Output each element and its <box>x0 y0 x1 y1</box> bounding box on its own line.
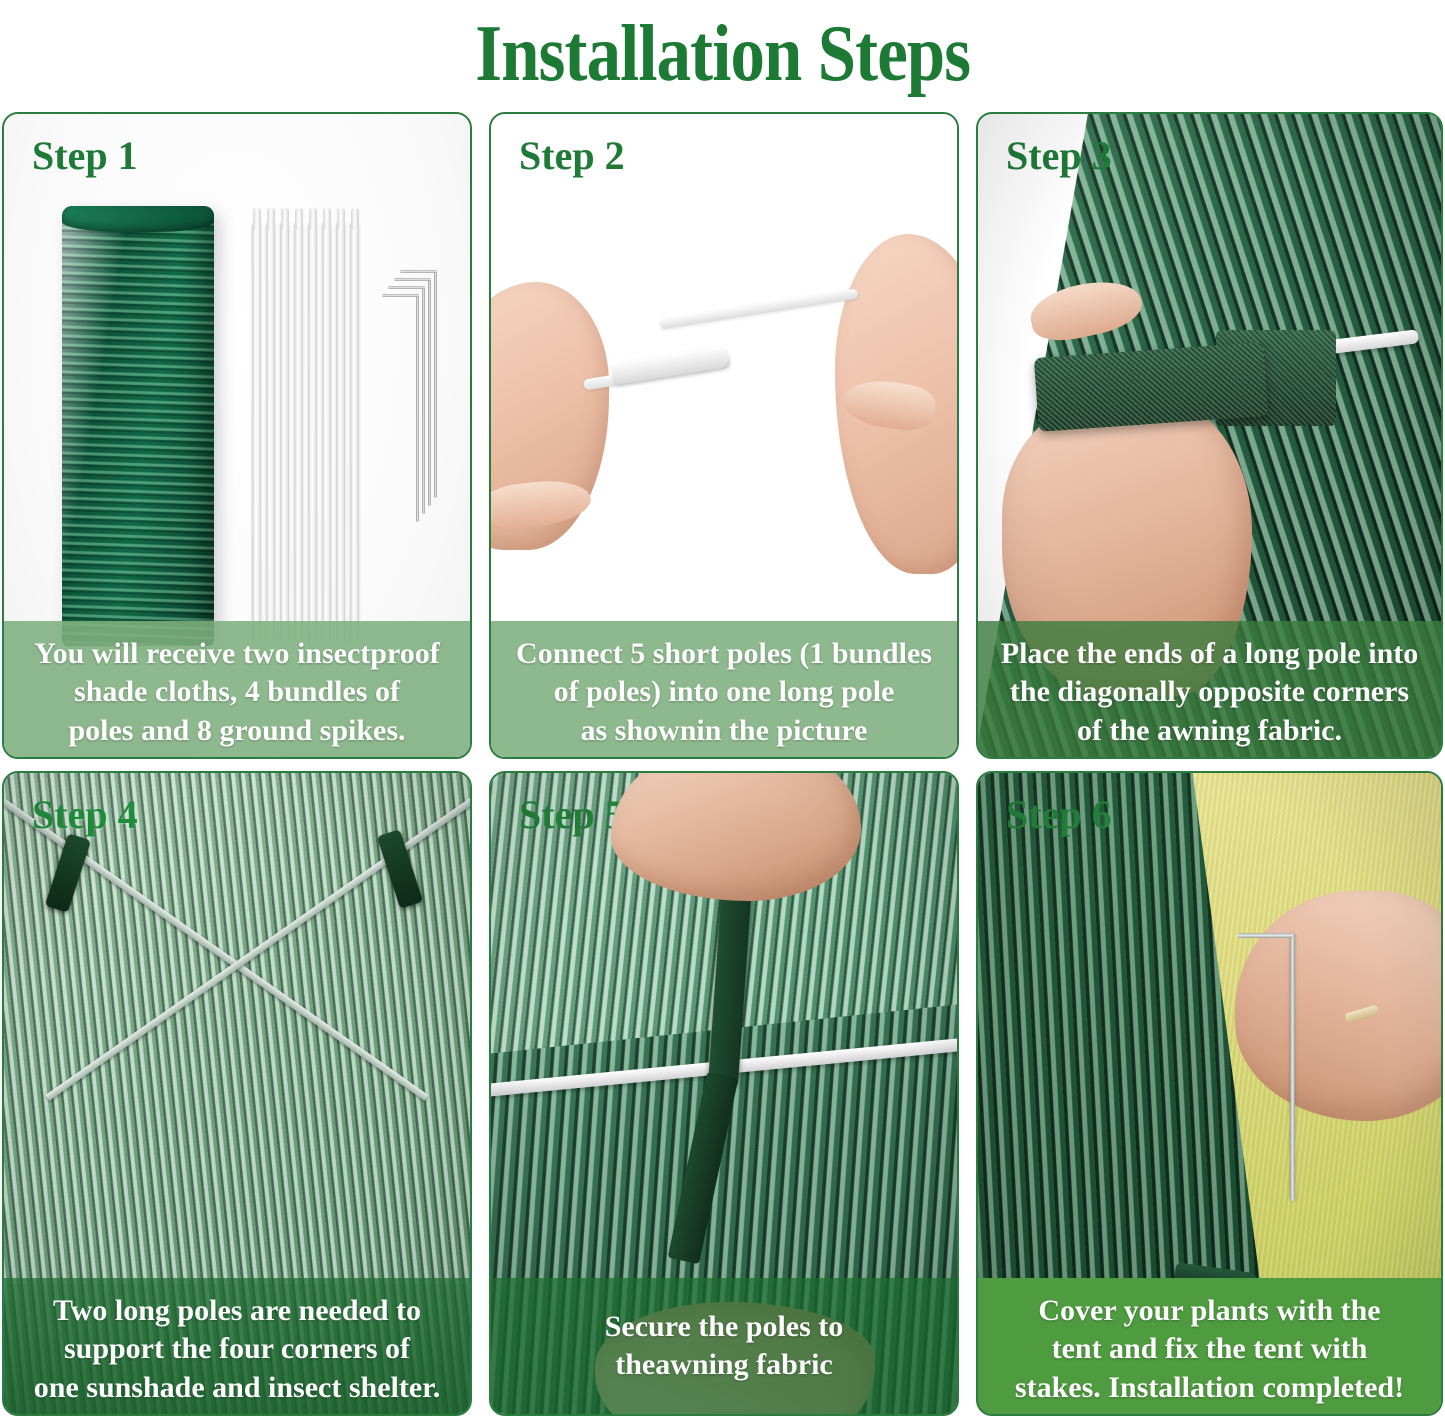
step-caption-5: Secure the poles to theawning fabric <box>491 1278 957 1414</box>
page-title: Installation Steps <box>475 14 970 94</box>
step-card-3[interactable]: Step 3 Place the ends of a long pole int… <box>976 112 1443 759</box>
caption-line: poles and 8 ground spikes. <box>22 712 452 750</box>
step-label-4: Step 4 <box>32 795 138 835</box>
caption-line: theawning fabric <box>509 1346 939 1384</box>
step-label-5: Step 5 <box>519 795 625 835</box>
pole-bundle-icon <box>252 222 364 642</box>
caption-line: as shownin the picture <box>509 712 939 750</box>
ground-stake-hook <box>1237 933 1293 938</box>
shade-cloth-roll-icon <box>62 206 214 646</box>
step-label-1: Step 1 <box>32 136 138 176</box>
step-caption-1: You will receive two insectproof shade c… <box>4 621 470 757</box>
page-title-bar: Installation Steps <box>0 0 1445 104</box>
caption-line: Place the ends of a long pole into <box>996 635 1423 673</box>
caption-line: one sunshade and insect shelter. <box>22 1369 452 1407</box>
caption-line: You will receive two insectproof <box>22 635 452 673</box>
caption-line: Secure the poles to <box>509 1308 939 1346</box>
step-label-3: Step 3 <box>1006 136 1112 176</box>
installation-steps-infographic: Installation Steps <box>0 0 1445 1416</box>
step-card-4[interactable]: Step 4 Two long poles are needed to supp… <box>2 771 472 1416</box>
thumb <box>841 377 938 434</box>
step-caption-3: Place the ends of a long pole into the d… <box>978 621 1441 757</box>
caption-line: the diagonally opposite corners <box>996 673 1423 711</box>
caption-line: support the four corners of <box>22 1330 452 1368</box>
caption-line: of poles) into one long pole <box>509 673 939 711</box>
caption-line: Cover your plants with the <box>996 1292 1423 1330</box>
caption-line: shade cloths, 4 bundles of <box>22 673 452 711</box>
step-card-1[interactable]: Step 1 You will receive two insectproof … <box>2 112 472 759</box>
steps-grid: Step 1 You will receive two insectproof … <box>2 112 1443 1412</box>
caption-line: stakes. Installation completed! <box>996 1369 1423 1407</box>
step-card-6[interactable]: Step 6 Cover your plants with the tent a… <box>976 771 1443 1416</box>
caption-line: Connect 5 short poles (1 bundles <box>509 635 939 673</box>
step-card-2[interactable]: Step 2 Connect 5 short poles (1 bundles … <box>489 112 959 759</box>
step-caption-2: Connect 5 short poles (1 bundles of pole… <box>491 621 957 757</box>
step-caption-6: Cover your plants with the tent and fix … <box>978 1278 1441 1414</box>
caption-line: Two long poles are needed to <box>22 1292 452 1330</box>
step-card-5[interactable]: Step 5 Secure the poles to theawning fab… <box>489 771 959 1416</box>
caption-line: tent and fix the tent with <box>996 1330 1423 1368</box>
ground-spike-icon <box>396 264 466 564</box>
step-label-6: Step 6 <box>1006 795 1112 835</box>
ground-stake-icon <box>1290 933 1295 1201</box>
step-label-2: Step 2 <box>519 136 625 176</box>
step-caption-4: Two long poles are needed to support the… <box>4 1278 470 1414</box>
caption-line: of the awning fabric. <box>996 712 1423 750</box>
